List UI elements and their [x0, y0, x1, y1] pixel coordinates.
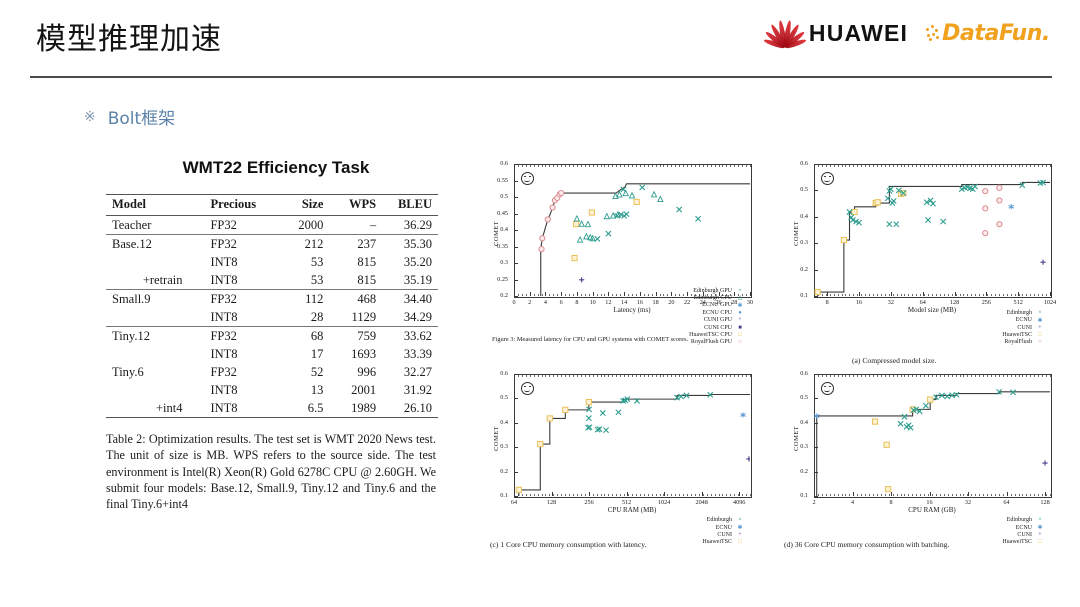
pareto-frontier-line: [818, 182, 1050, 296]
table-row: TeacherFP322000–36.29: [106, 216, 438, 235]
cell-model: +retrain: [106, 271, 204, 290]
cell-wps: 237: [329, 235, 382, 254]
table-row: Small.9FP3211246834.40: [106, 290, 438, 309]
legend-item: ECNU✱: [1002, 316, 1044, 323]
legend: Edinburgh×ECNU✱CUNI+HuaweiTSC□: [702, 516, 744, 546]
cell-precious: INT8: [204, 345, 279, 363]
legend-item: Edinburgh GPU×: [689, 287, 744, 294]
cell-precious: INT8: [204, 381, 279, 399]
results-table-block: WMT22 Efficiency Task Model Precious Siz…: [106, 158, 446, 513]
legend-label: CUNI CPU: [704, 325, 732, 331]
cell-size: 13: [280, 381, 330, 399]
legend-marker-star-icon: ✱: [1036, 317, 1044, 324]
cell-wps: 759: [329, 327, 382, 346]
pareto-frontier-line: [541, 184, 750, 296]
cell-precious: FP32: [204, 363, 279, 381]
table-body: TeacherFP322000–36.29Base.12FP3221223735…: [106, 216, 438, 418]
col-precious: Precious: [204, 195, 279, 216]
cell-model: Tiny.6: [106, 363, 204, 381]
figure-fig_a: 0.10.20.30.40.50.681632641282565121024CO…: [784, 158, 1056, 378]
cell-bleu: 33.39: [382, 345, 438, 363]
cell-model: [106, 253, 204, 271]
figure-a-caption: (a) Compressed model size.: [852, 356, 936, 365]
plot-data-layer: [784, 158, 1056, 318]
legend-label: HuaweiTSC: [702, 539, 732, 545]
bullet-row: ※ Bolt框架: [84, 104, 175, 129]
cell-bleu: 31.92: [382, 381, 438, 399]
table-row: Base.12FP3221223735.30: [106, 235, 438, 254]
legend-label: ECNU: [1016, 317, 1032, 323]
legend-marker-square-filled-icon: ■: [736, 325, 744, 331]
legend-label: CUNI: [1017, 532, 1032, 538]
cell-precious: FP32: [204, 327, 279, 346]
logo-bar: HUAWEI DataFun.: [768, 18, 1050, 48]
table-header: Model Precious Size WPS BLEU: [106, 195, 438, 216]
table-heading: WMT22 Efficiency Task: [106, 158, 446, 178]
datafun-logo: DataFun.: [926, 21, 1050, 46]
legend-marker-plus-icon: +: [736, 532, 744, 538]
legend-label: ECNU: [1016, 525, 1032, 531]
legend-marker-x-icon: ×: [736, 517, 744, 523]
legend-marker-square-icon: □: [736, 539, 744, 545]
legend-marker-x-icon: ×: [1036, 310, 1044, 316]
header-divider: [30, 76, 1052, 78]
cell-precious: INT8: [204, 271, 279, 290]
figure-fig3: 0.20.250.30.350.40.450.50.550.6024681012…: [484, 158, 756, 378]
legend-marker-circle-icon: ○: [736, 339, 744, 345]
cell-wps: 996: [329, 363, 382, 381]
legend-label: RoyalFlush GPU: [691, 339, 732, 345]
legend-item: CUNI+: [702, 531, 744, 538]
legend: Edinburgh GPU×Edinburgh CPU△ECNU GPU✱ECN…: [689, 287, 744, 346]
legend-label: Edinburgh CPU: [694, 295, 732, 301]
legend-item: RoyalFlush○: [1002, 339, 1044, 346]
cell-size: 52: [280, 363, 330, 381]
figure-c-caption: (c) 1 Core CPU memory consumption with l…: [490, 540, 646, 549]
legend-marker-x-icon: ×: [1036, 517, 1044, 523]
legend-item: CUNI+: [1002, 324, 1044, 331]
legend-label: ECNU: [716, 525, 732, 531]
optimization-results-table: Model Precious Size WPS BLEU TeacherFP32…: [106, 194, 438, 418]
legend-label: RoyalFlush: [1004, 339, 1032, 345]
table-row: INT817169333.39: [106, 345, 438, 363]
legend-marker-star-icon: ✱: [736, 302, 744, 309]
legend-marker-star-icon: ✱: [736, 524, 744, 531]
col-model: Model: [106, 195, 204, 216]
col-wps: WPS: [329, 195, 382, 216]
legend-item: Edinburgh×: [702, 516, 744, 523]
legend-label: CUNI: [1017, 325, 1032, 331]
table-row: INT813200131.92: [106, 381, 438, 399]
cell-bleu: 35.20: [382, 253, 438, 271]
legend-item: HuaweiTSC CPU□: [689, 331, 744, 338]
cell-size: 112: [280, 290, 330, 309]
cell-bleu: 36.29: [382, 216, 438, 235]
figure-d-caption: (d) 36 Core CPU memory consumption with …: [784, 540, 949, 549]
table-header-row: Model Precious Size WPS BLEU: [106, 195, 438, 216]
cell-precious: FP32: [204, 216, 279, 235]
cell-model: Tiny.12: [106, 327, 204, 346]
legend-item: CUNI CPU■: [689, 324, 744, 331]
huawei-petal-icon: [768, 18, 802, 48]
bullet-label: Bolt框架: [108, 104, 175, 129]
legend-label: ECNU GPU: [702, 302, 732, 308]
legend-item: ECNU CPU●: [689, 309, 744, 316]
pareto-frontier-line: [519, 394, 750, 496]
cell-wps: 815: [329, 253, 382, 271]
legend-label: HuaweiTSC: [1002, 539, 1032, 545]
cell-bleu: 26.10: [382, 399, 438, 418]
legend-marker-square-icon: □: [736, 332, 744, 338]
cell-size: 53: [280, 253, 330, 271]
legend-label: Edinburgh GPU: [693, 288, 732, 294]
cell-model: +int4: [106, 399, 204, 418]
asterisk-bullet-icon: ※: [84, 108, 96, 125]
legend-label: CUNI GPU: [704, 317, 732, 323]
legend-item: RoyalFlush GPU○: [689, 339, 744, 346]
cell-size: 212: [280, 235, 330, 254]
cell-model: Small.9: [106, 290, 204, 309]
legend-marker-square-icon: □: [1036, 332, 1044, 338]
legend-label: Edinburgh: [707, 517, 732, 523]
cell-wps: 1693: [329, 345, 382, 363]
cell-model: [106, 381, 204, 399]
legend-marker-plus-icon: +: [1036, 325, 1044, 331]
legend-item: Edinburgh CPU△: [689, 294, 744, 301]
legend-marker-circle-icon: ○: [1036, 339, 1044, 345]
legend-marker-star-icon: ✱: [1036, 524, 1044, 531]
cell-model: [106, 308, 204, 327]
huawei-wordmark: HUAWEI: [809, 20, 908, 47]
cell-bleu: 33.62: [382, 327, 438, 346]
cell-bleu: 35.30: [382, 235, 438, 254]
legend-marker-circle-filled-icon: ●: [736, 310, 744, 316]
huawei-logo: HUAWEI: [768, 18, 908, 48]
table-row: +retrainINT85381535.19: [106, 271, 438, 290]
legend-item: HuaweiTSC□: [702, 539, 744, 546]
table-row: Tiny.6FP325299632.27: [106, 363, 438, 381]
cell-wps: 468: [329, 290, 382, 309]
datafun-wordmark: DataFun.: [942, 21, 1050, 46]
cell-wps: 1129: [329, 308, 382, 327]
legend-marker-plus-icon: +: [736, 317, 744, 323]
legend-item: Edinburgh×: [1002, 516, 1044, 523]
cell-bleu: 32.27: [382, 363, 438, 381]
cell-bleu: 35.19: [382, 271, 438, 290]
cell-model: [106, 345, 204, 363]
legend-item: CUNI+: [1002, 531, 1044, 538]
legend: Edinburgh×ECNU✱CUNI+HuaweiTSC□: [1002, 516, 1044, 546]
table-row: INT828112934.29: [106, 308, 438, 327]
cell-model: Base.12: [106, 235, 204, 254]
cell-bleu: 34.29: [382, 308, 438, 327]
table-row: Tiny.12FP326875933.62: [106, 327, 438, 346]
cell-precious: INT8: [204, 253, 279, 271]
legend-item: CUNI GPU+: [689, 316, 744, 323]
cell-precious: FP32: [204, 235, 279, 254]
cell-wps: 1989: [329, 399, 382, 418]
datafun-dots-icon: [926, 25, 939, 42]
legend-marker-triangle-icon: △: [736, 294, 744, 301]
legend-marker-plus-icon: +: [1036, 532, 1044, 538]
plot-data-layer: [484, 368, 756, 518]
table-caption: Table 2: Optimization results. The test …: [106, 431, 436, 513]
cell-wps: 815: [329, 271, 382, 290]
legend-label: ECNU CPU: [702, 310, 732, 316]
legend-item: Edinburgh×: [1002, 309, 1044, 316]
cell-precious: FP32: [204, 290, 279, 309]
legend-label: Edinburgh: [1007, 310, 1032, 316]
cell-wps: 2001: [329, 381, 382, 399]
figure3-caption: Figure 3: Measured latency for CPU and G…: [492, 336, 688, 343]
legend-label: HuaweiTSC: [1002, 332, 1032, 338]
legend-item: HuaweiTSC□: [1002, 331, 1044, 338]
cell-size: 53: [280, 271, 330, 290]
cell-precious: INT8: [204, 399, 279, 418]
col-bleu: BLEU: [382, 195, 438, 216]
cell-bleu: 34.40: [382, 290, 438, 309]
cell-size: 6.5: [280, 399, 330, 418]
plot-data-layer: [784, 368, 1056, 518]
page-title: 模型推理加速: [36, 14, 222, 58]
cell-size: 2000: [280, 216, 330, 235]
pareto-frontier-line: [817, 392, 1050, 496]
table-row: +int4INT86.5198926.10: [106, 399, 438, 418]
legend-item: ECNU✱: [702, 524, 744, 531]
legend-marker-square-icon: □: [1036, 539, 1044, 545]
cell-precious: INT8: [204, 308, 279, 327]
cell-size: 68: [280, 327, 330, 346]
legend-label: Edinburgh: [1007, 517, 1032, 523]
legend-item: ECNU GPU✱: [689, 302, 744, 309]
legend-item: HuaweiTSC□: [1002, 539, 1044, 546]
cell-model: Teacher: [106, 216, 204, 235]
cell-size: 28: [280, 308, 330, 327]
legend-marker-x-icon: ×: [736, 288, 744, 294]
cell-wps: –: [329, 216, 382, 235]
legend-label: CUNI: [717, 532, 732, 538]
legend-item: ECNU✱: [1002, 524, 1044, 531]
col-size: Size: [280, 195, 330, 216]
legend: Edinburgh×ECNU✱CUNI+HuaweiTSC□RoyalFlush…: [1002, 309, 1044, 346]
legend-label: HuaweiTSC CPU: [689, 332, 732, 338]
cell-size: 17: [280, 345, 330, 363]
figures-panel: 0.20.250.30.350.40.450.50.550.6024681012…: [484, 158, 1068, 558]
table-row: INT85381535.20: [106, 253, 438, 271]
